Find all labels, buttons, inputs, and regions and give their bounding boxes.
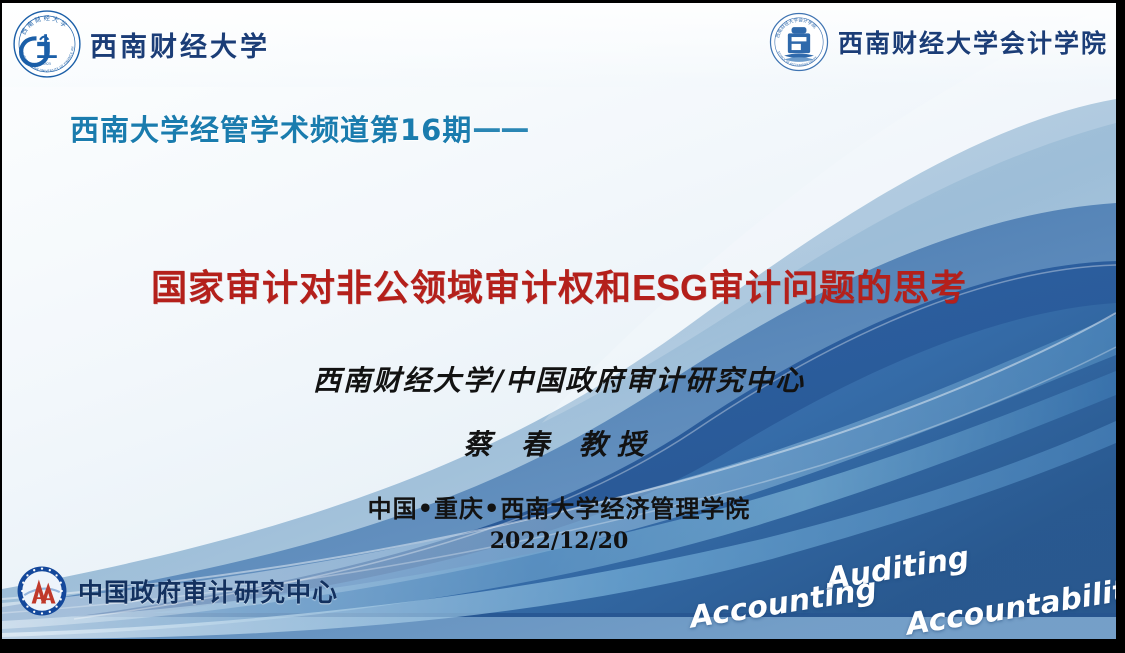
swufe-accounting-school-seal-icon: 西南财经大学会计学院 SCHOOL OF ACCOUNTING SWUFE (768, 11, 830, 73)
title-suffix: 审计问题的思考 (708, 268, 967, 309)
speaker-affiliation: 西南财经大学/中国政府审计研究中心 (2, 359, 1116, 399)
keyword-accountability: Accountability (904, 570, 1116, 639)
china-government-audit-research-center-logo-icon (16, 565, 68, 617)
series-label: 西南大学经管学术频道第16期 (70, 107, 472, 149)
research-center-logo-block: 中国政府审计研究中心 (16, 565, 338, 617)
title-emphasis-esg: ESG (632, 267, 708, 308)
page-title: 国家审计对非公领域审计权和ESG审计问题的思考 (2, 259, 1116, 311)
title-prefix: 国家审计对非公领域审计权和 (151, 268, 632, 309)
credits-block: 西南财经大学/中国政府审计研究中心 蔡 春 教授 中国•重庆•西南大学经济管理学… (2, 359, 1116, 554)
event-date: 2022/12/20 (2, 528, 1116, 554)
swufe-university-logo: 西 南 财 经 大 学 SOUTHWESTERN UNIVERSITY OF F… (12, 9, 270, 79)
slide-frame: 西 南 财 经 大 学 SOUTHWESTERN UNIVERSITY OF F… (0, 0, 1125, 653)
swufe-accounting-school-logo: 西南财经大学会计学院 SCHOOL OF ACCOUNTING SWUFE 西南… (768, 11, 1108, 73)
swufe-university-wordmark: 西南财经大学 (90, 25, 270, 64)
academic-channel-series-line: 西南大学经管学术频道第16期 —— (70, 107, 528, 149)
speaker-name: 蔡 春 教授 (2, 423, 1116, 463)
slide-canvas: 西 南 财 经 大 学 SOUTHWESTERN UNIVERSITY OF F… (2, 3, 1116, 639)
swufe-accounting-school-wordmark: 西南财经大学会计学院 (838, 24, 1108, 60)
keyword-accounting: Accounting (687, 571, 879, 635)
swufe-university-seal-icon: 西 南 财 经 大 学 SOUTHWESTERN UNIVERSITY OF F… (12, 9, 82, 79)
svg-text:1925: 1925 (43, 62, 51, 66)
series-dash: —— (472, 111, 528, 145)
event-venue: 中国•重庆•西南大学经济管理学院 (2, 489, 1116, 524)
logo-row: 西 南 财 经 大 学 SOUTHWESTERN UNIVERSITY OF F… (2, 3, 1116, 87)
research-center-wordmark: 中国政府审计研究中心 (78, 573, 338, 609)
